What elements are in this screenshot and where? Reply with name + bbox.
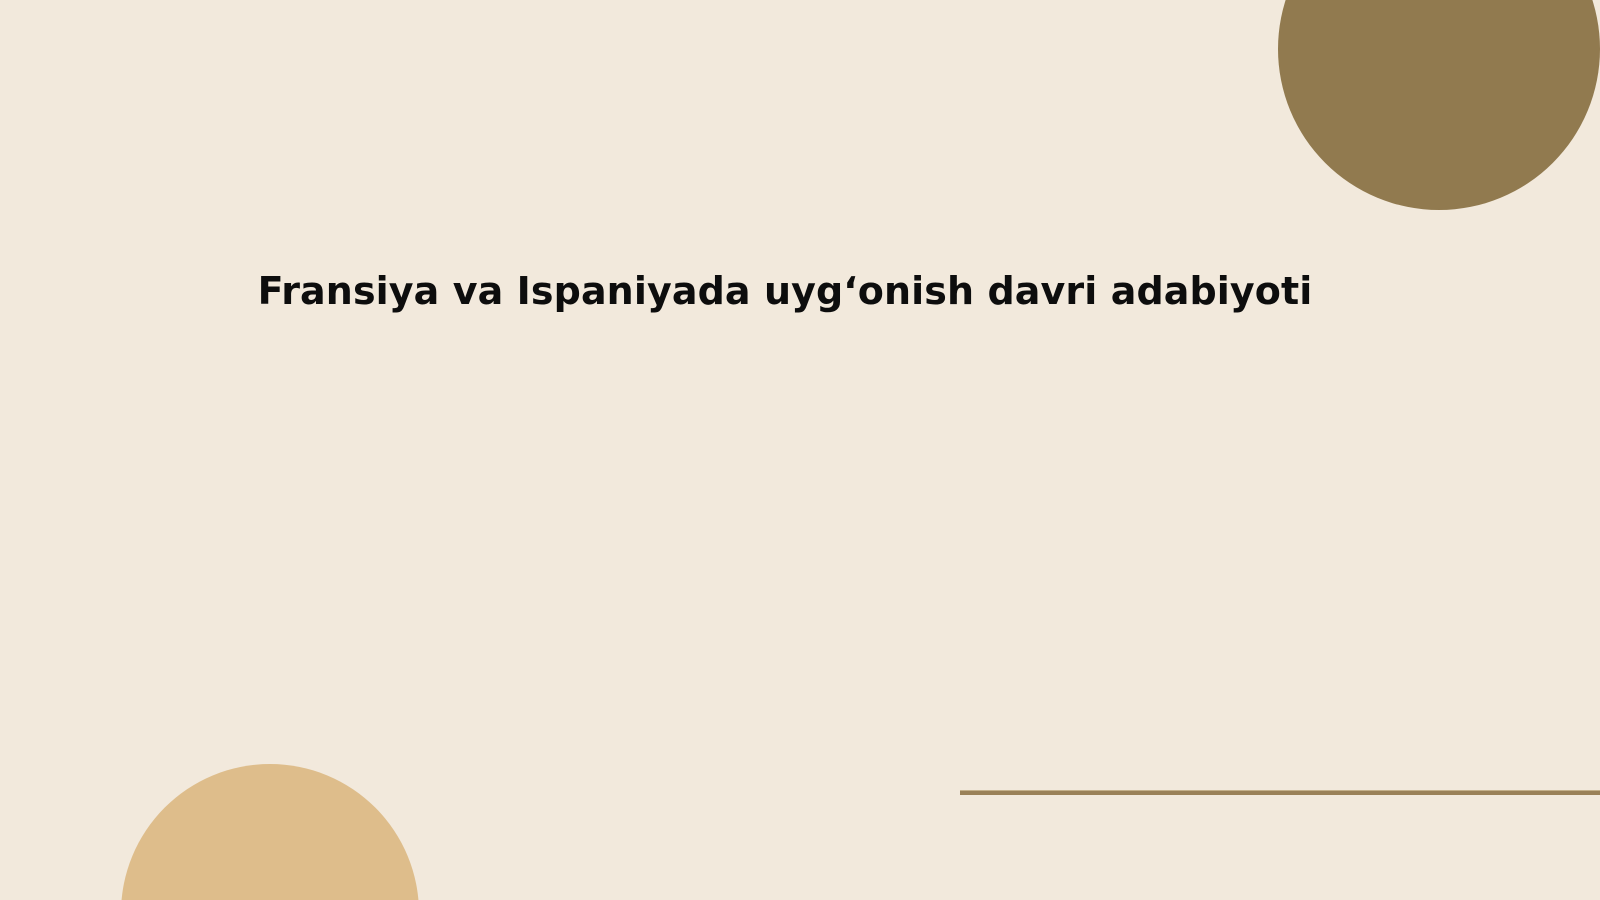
page-title: Fransiya va Ispaniyada uyg‘onish davri a… [258,268,1313,316]
slide-canvas: Fransiya va Ispaniyada uyg‘onish davri a… [0,0,1600,900]
bottom-left-circle-decoration [121,764,419,900]
top-right-circle-decoration [1278,0,1600,210]
accent-rule-divider [960,790,1600,795]
title-block: Fransiya va Ispaniyada uyg‘onish davri a… [0,268,1570,316]
